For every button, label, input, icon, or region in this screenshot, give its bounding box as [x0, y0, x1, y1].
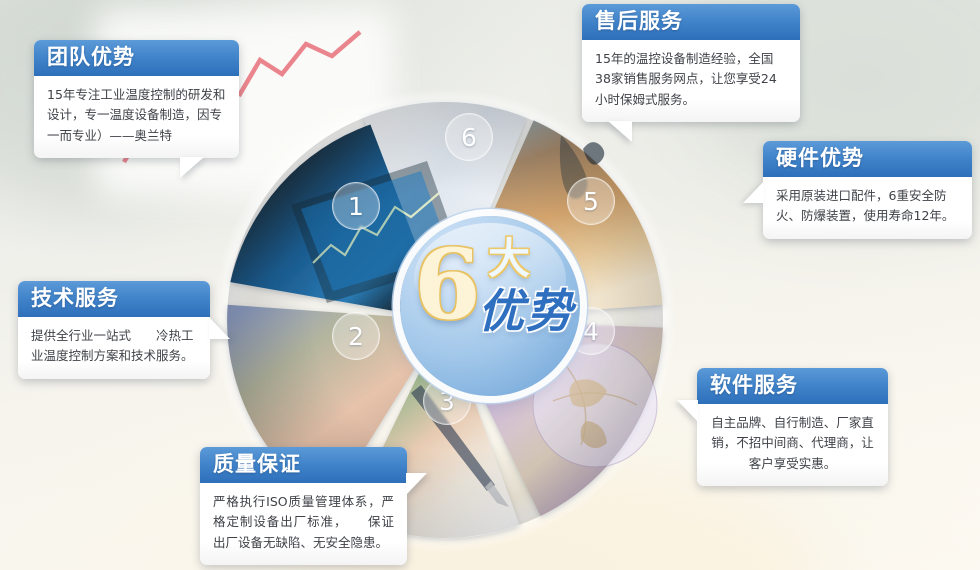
card-tail-after-sales	[608, 121, 632, 142]
center-hub: 6 大 优势	[400, 216, 580, 396]
segment-number-2: 2	[332, 312, 380, 360]
card-body-after-sales: 15年的温控设备制造经验，全国38家销售服务网点，让您享受24小时保姆式服务。	[582, 40, 800, 122]
card-tail-hardware	[743, 181, 764, 203]
card-title-hardware: 硬件优势	[763, 141, 972, 177]
card-tail-technical	[209, 317, 230, 339]
card-tail-team	[180, 157, 204, 178]
card-body-technical: 提供全行业一站式 冷热工业温度控制方案和技术服务。	[18, 317, 210, 379]
card-title-team: 团队优势	[34, 40, 239, 76]
hub-char-da: 大	[488, 238, 530, 280]
callout-card-quality[interactable]: 质量保证 严格执行ISO质量管理体系，严格定制设备出厂标准， 保证出厂设备无缺陷…	[200, 447, 407, 565]
callout-card-hardware[interactable]: 硬件优势 采用原装进口配件，6重安全防火、防爆装置，使用寿命12年。	[763, 141, 972, 239]
card-tail-software	[677, 400, 698, 422]
hub-text-youshi: 优势	[478, 288, 574, 334]
card-title-quality: 质量保证	[200, 447, 407, 483]
segment-number-1: 1	[332, 182, 380, 230]
infographic-canvas: 1 2 3 4 5 6 6 大 优势 团队优势 15年专注工业温度控制的研发和设…	[0, 0, 980, 570]
callout-card-software[interactable]: 软件服务 自主品牌、自行制造、厂家直销，不招中间商、代理商，让客户享受实惠。	[697, 368, 888, 486]
card-body-software: 自主品牌、自行制造、厂家直销，不招中间商、代理商，让客户享受实惠。	[697, 404, 888, 486]
card-body-team: 15年专注工业温度控制的研发和设计，专一温度设备制造，因专一而专业）——奥兰特	[34, 76, 239, 158]
card-title-technical: 技术服务	[18, 281, 210, 317]
card-tail-quality	[406, 473, 427, 495]
callout-card-team[interactable]: 团队优势 15年专注工业温度控制的研发和设计，专一温度设备制造，因专一而专业）—…	[34, 40, 239, 158]
card-title-software: 软件服务	[697, 368, 888, 404]
callout-card-technical[interactable]: 技术服务 提供全行业一站式 冷热工业温度控制方案和技术服务。	[18, 281, 210, 379]
callout-card-after-sales[interactable]: 售后服务 15年的温控设备制造经验，全国38家销售服务网点，让您享受24小时保姆…	[582, 4, 800, 122]
segment-number-6: 6	[445, 113, 493, 161]
card-body-hardware: 采用原装进口配件，6重安全防火、防爆装置，使用寿命12年。	[763, 177, 972, 239]
hub-number-six: 6	[414, 242, 481, 328]
card-title-after-sales: 售后服务	[582, 4, 800, 40]
card-body-quality: 严格执行ISO质量管理体系，严格定制设备出厂标准， 保证出厂设备无缺陷、无安全隐…	[200, 483, 407, 565]
